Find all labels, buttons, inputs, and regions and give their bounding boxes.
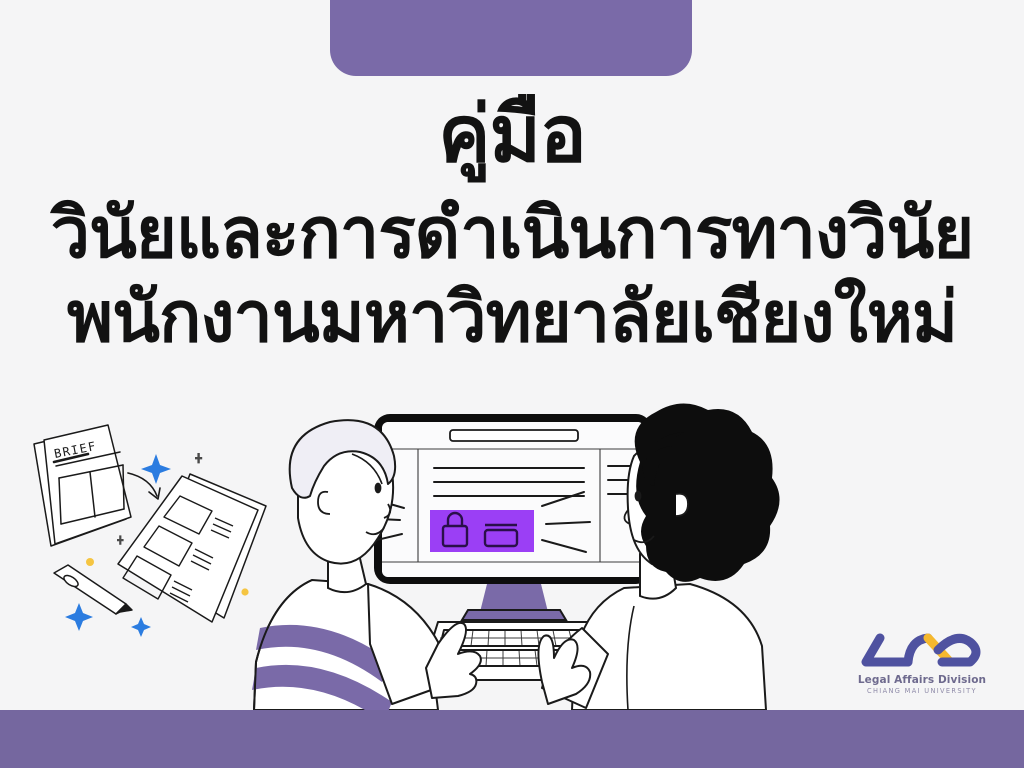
title-line-3: พนักงานมหาวิทยาลัยเชียงใหม่ (0, 282, 1024, 352)
screen-content (382, 422, 644, 577)
screen-search-bar (450, 430, 578, 441)
title-line-1: คู่มือ (0, 96, 1024, 174)
pencil-icon (54, 565, 132, 614)
people-computer-illustration (242, 392, 782, 722)
logo-name: Legal Affairs Division (852, 674, 992, 686)
bottom-accent-band (0, 710, 1024, 768)
poster-canvas: คู่มือ วินัยและการดำเนินการทางวินัย พนัก… (0, 0, 1024, 768)
title-block: คู่มือ วินัยและการดำเนินการทางวินัย พนัก… (0, 96, 1024, 352)
logo-subtitle: CHIANG MAI UNIVERSITY (852, 687, 992, 695)
top-accent-tab (330, 0, 692, 76)
title-line-2: วินัยและการดำเนินการทางวินัย (0, 198, 1024, 268)
logo-mark (852, 628, 992, 676)
